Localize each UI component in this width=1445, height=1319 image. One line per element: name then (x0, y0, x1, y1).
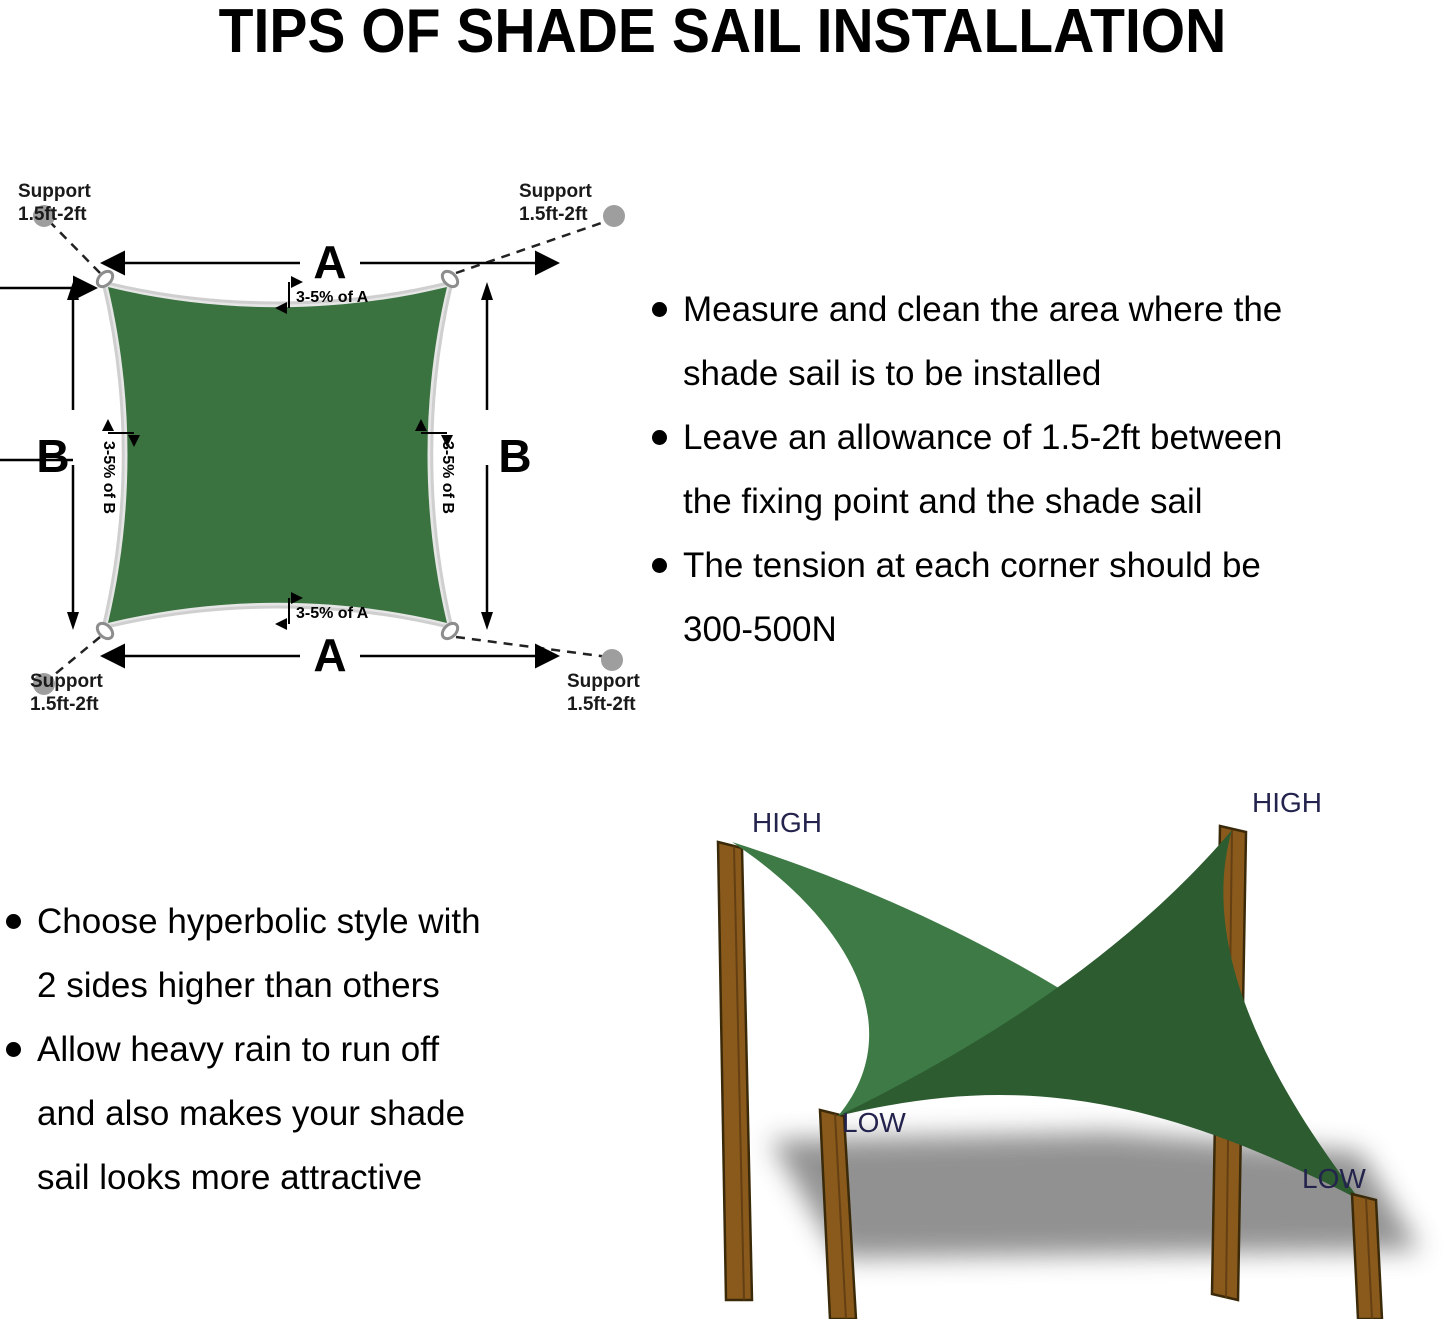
installation-tips-list-top: Measure and clean the area where the sha… (652, 278, 1445, 662)
post-low-right (1352, 1194, 1382, 1319)
support-line-bottom-right (456, 637, 608, 657)
bullet-spacer-icon (6, 978, 21, 993)
callout-bottom-label: 3-5% of A (296, 605, 369, 622)
dimension-b-right: B (481, 282, 532, 630)
list-item: Allow heavy rain to run off (6, 1018, 646, 1082)
bullet-spacer-icon (6, 1170, 21, 1185)
installation-tips-list-bottom: Choose hyperbolic style with 2 sides hig… (6, 890, 646, 1210)
dimension-a-top-label: A (313, 236, 346, 288)
label-high-left: HIGH (752, 807, 822, 838)
list-item-text: and also makes your shade (37, 1082, 646, 1146)
support-line-top-right (456, 220, 610, 273)
dimension-b-left: B (0, 282, 79, 630)
list-item: Leave an allowance of 1.5-2ft between (652, 406, 1445, 470)
list-item-continuation: 2 sides higher than others (6, 954, 646, 1018)
support-label-line2: 1.5ft-2ft (519, 204, 588, 225)
support-label-top-right: Support 1.5ft-2ft (519, 181, 592, 225)
bullet-spacer-icon (6, 1106, 21, 1121)
bullet-spacer-icon (652, 494, 667, 509)
bullet-dot-icon (652, 430, 667, 445)
support-dot-top-right (603, 205, 625, 227)
bullet-dot-icon (6, 1042, 21, 1057)
support-dot-bottom-right (601, 649, 623, 671)
dimension-a-bottom-label: A (313, 629, 346, 681)
page-title: TIPS OF SHADE SAIL INSTALLATION (58, 0, 1387, 67)
list-item-text: Leave an allowance of 1.5-2ft between (683, 406, 1445, 470)
support-label-line2: 1.5ft-2ft (567, 694, 636, 715)
list-item-continuation: the fixing point and the shade sail (652, 470, 1445, 534)
list-item-text: shade sail is to be installed (683, 342, 1445, 406)
bullet-spacer-icon (652, 622, 667, 637)
list-item-text: sail looks more attractive (37, 1146, 646, 1210)
list-item-text: Choose hyperbolic style with (37, 890, 646, 954)
shade-sail-shape (108, 287, 447, 623)
list-item-text: 2 sides higher than others (37, 954, 646, 1018)
support-label-line1: Support (18, 181, 91, 202)
list-item-text: Measure and clean the area where the (683, 278, 1445, 342)
rect-sail-diagram: Support 1.5ft-2ft Support 1.5ft-2ft Supp… (0, 160, 660, 730)
infographic-page: TIPS OF SHADE SAIL INSTALLATION (0, 0, 1445, 1319)
support-label-top-left: Support 1.5ft-2ft (18, 181, 91, 225)
support-label-bottom-right: Support 1.5ft-2ft (567, 671, 640, 715)
list-item-text: Allow heavy rain to run off (37, 1018, 646, 1082)
support-label-line2: 1.5ft-2ft (30, 694, 99, 715)
bullet-dot-icon (6, 914, 21, 929)
support-label-line1: Support (30, 671, 103, 692)
list-item-continuation: and also makes your shade (6, 1082, 646, 1146)
callout-right-label: 3-5% of B (439, 441, 456, 514)
support-label-line1: Support (567, 671, 640, 692)
label-low-left: LOW (842, 1107, 906, 1138)
list-item: Choose hyperbolic style with (6, 890, 646, 954)
callout-top-label: 3-5% of A (296, 289, 369, 306)
support-label-line1: Support (519, 181, 592, 202)
list-item-continuation: 300-500N (652, 598, 1445, 662)
list-item-text: the fixing point and the shade sail (683, 470, 1445, 534)
bullet-dot-icon (652, 302, 667, 317)
bullet-spacer-icon (652, 366, 667, 381)
dimension-a-bottom: A (125, 629, 535, 681)
callout-left-label: 3-5% of B (100, 441, 117, 514)
list-item-continuation: sail looks more attractive (6, 1146, 646, 1210)
label-high-right: HIGH (1252, 787, 1322, 818)
hyperbolic-sail-illustration: HIGH HIGH LOW LOW (660, 780, 1445, 1319)
support-line-top-left (48, 220, 100, 273)
label-low-right: LOW (1302, 1163, 1366, 1194)
dimension-a-top: A (125, 236, 535, 288)
support-label-line2: 1.5ft-2ft (18, 204, 87, 225)
dimension-b-left-label: B (36, 430, 69, 482)
post-high-left (718, 842, 752, 1300)
list-item-continuation: shade sail is to be installed (652, 342, 1445, 406)
list-item-text: The tension at each corner should be (683, 534, 1445, 598)
list-item: The tension at each corner should be (652, 534, 1445, 598)
dimension-b-right-label: B (498, 430, 531, 482)
bullet-dot-icon (652, 558, 667, 573)
list-item: Measure and clean the area where the (652, 278, 1445, 342)
list-item-text: 300-500N (683, 598, 1445, 662)
